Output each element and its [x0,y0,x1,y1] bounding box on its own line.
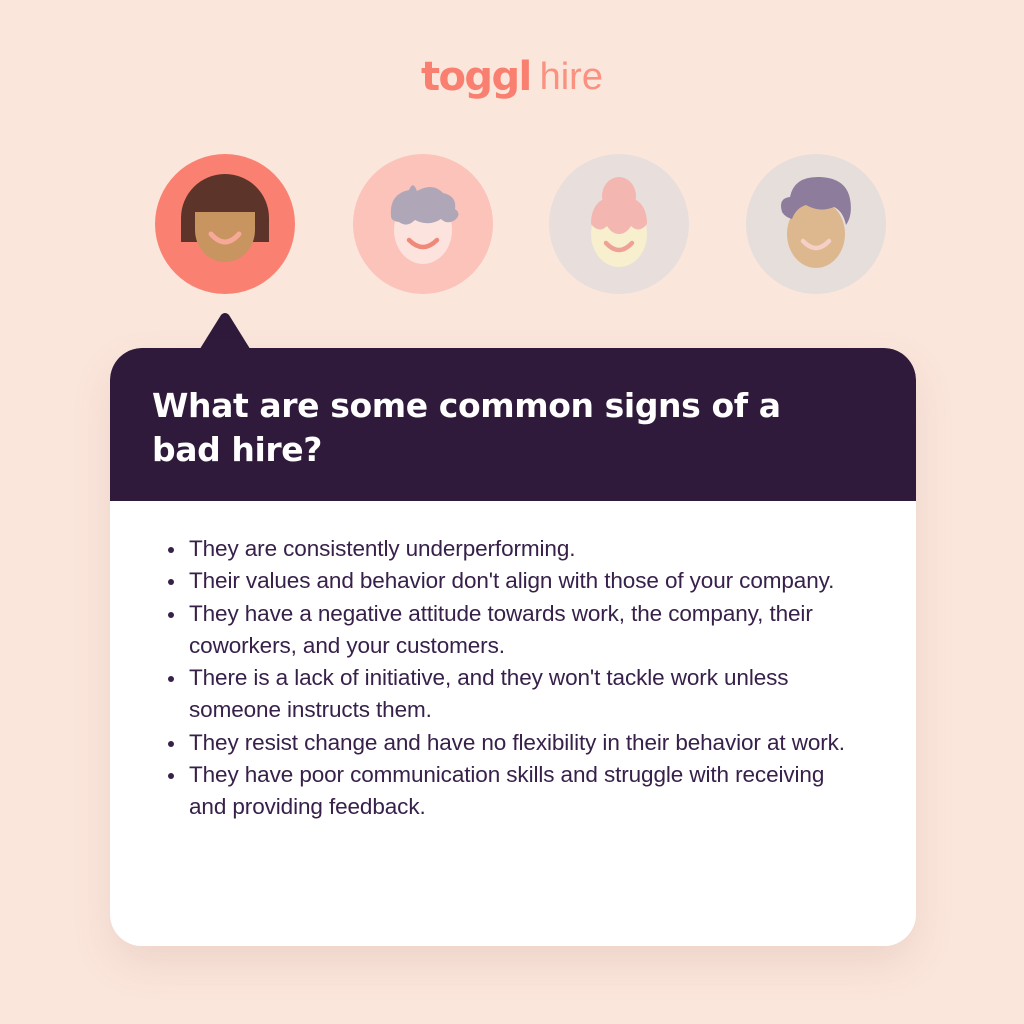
speech-bubble-tail [196,312,254,352]
list-item: They resist change and have no flexibili… [158,727,858,759]
logo-toggl-wordmark: toggl [421,54,531,100]
list-item: Their values and behavior don't align wi… [158,565,858,597]
faq-card: What are some common signs of a bad hire… [110,348,916,946]
avatar-woman-brown-bob-graphic [155,154,295,294]
list-item: There is a lack of initiative, and they … [158,662,858,727]
avatar-man-purple-hair[interactable] [746,154,886,294]
brand-logo: togglhire [0,52,1024,102]
question-title: What are some common signs of a bad hire… [152,384,812,472]
avatar-woman-pink-bun[interactable] [549,154,689,294]
avatar-woman-pink-bun-graphic [549,154,689,294]
list-item: They are consistently underperforming. [158,533,858,565]
faq-card-body: They are consistently underperforming. T… [110,501,916,946]
avatar-person-grey-wavy-hair[interactable] [353,154,493,294]
list-item: They have a negative attitude towards wo… [158,598,858,663]
faq-card-header: What are some common signs of a bad hire… [110,348,916,501]
list-item: They have poor communication skills and … [158,759,858,824]
avatar-man-purple-hair-graphic [746,154,886,294]
avatar-row [155,154,895,296]
avatar-person-grey-wavy-hair-graphic [353,154,493,294]
logo-hire-wordmark: hire [540,56,603,98]
answer-bullet-list: They are consistently underperforming. T… [158,533,872,824]
avatar-woman-brown-bob[interactable] [155,154,295,294]
